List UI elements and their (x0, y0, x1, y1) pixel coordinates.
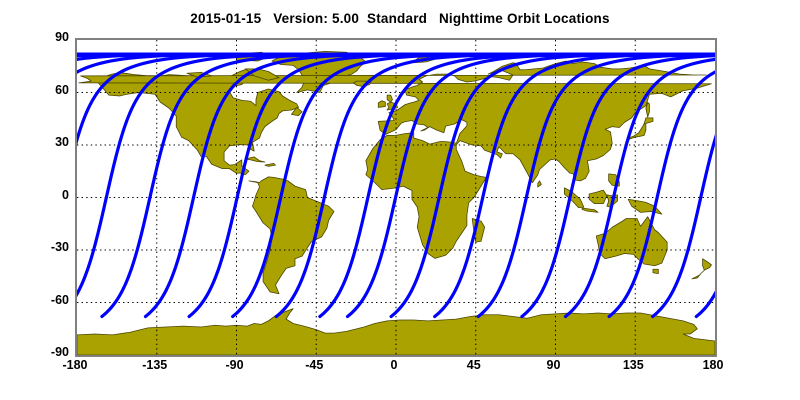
orbit-track-orbit-08-wrap1 (653, 55, 715, 316)
y-tick-label-neg90: -90 (51, 345, 69, 359)
x-tick-label-180: 180 (683, 358, 743, 372)
orbit-map-figure: 2015-01-15 Version: 5.00 Standard Nightt… (0, 0, 800, 400)
landmass-layer (77, 51, 715, 355)
y-tick-label-30: 30 (55, 135, 69, 149)
x-tick-label-neg135: -135 (125, 358, 185, 372)
x-tick-label-neg45: -45 (284, 358, 344, 372)
land-hokkaido (644, 118, 653, 124)
x-tick-label-neg180: -180 (45, 358, 105, 372)
x-tick-label-90: 90 (524, 358, 584, 372)
land-ireland (378, 101, 385, 108)
plot-frame (75, 38, 717, 357)
y-tick-label-60: 60 (55, 83, 69, 97)
x-tick-label-45: 45 (444, 358, 504, 372)
x-tick-label-0: 0 (364, 358, 424, 372)
land-antarctica (77, 309, 715, 355)
orbit-track-orbit-09-wrap1 (696, 55, 715, 316)
land-cuba (245, 157, 264, 162)
y-tick-label-0: 0 (62, 188, 69, 202)
land-tasmania (653, 269, 658, 273)
y-tick-label-neg30: -30 (51, 240, 69, 254)
land-hispaniola (265, 163, 276, 166)
land-north-america (98, 69, 298, 175)
map-canvas (77, 40, 715, 355)
land-sri-lanka (538, 181, 542, 187)
y-tick-label-neg60: -60 (51, 293, 69, 307)
land-borneo (589, 190, 607, 203)
land-new-zealand-s (692, 270, 704, 279)
land-central-south-am (249, 177, 334, 294)
x-tick-label-neg90: -90 (205, 358, 265, 372)
y-tick-label-90: 90 (55, 30, 69, 44)
x-tick-label-135: 135 (603, 358, 663, 372)
figure-title: 2015-01-15 Version: 5.00 Standard Nightt… (0, 11, 800, 26)
land-java (582, 208, 598, 212)
land-new-zealand-n (703, 259, 712, 270)
